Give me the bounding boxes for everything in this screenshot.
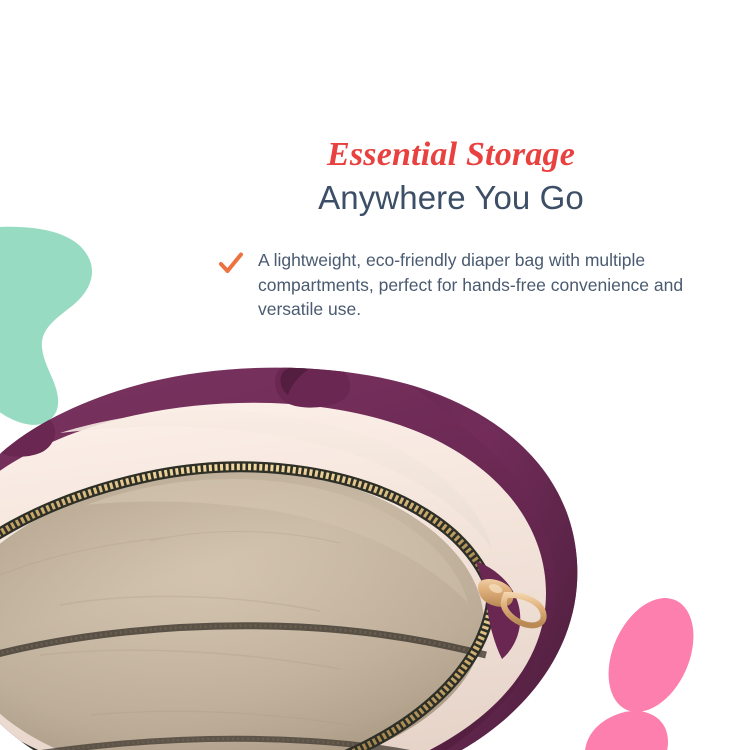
- feature-row: A lightweight, eco-friendly diaper bag w…: [216, 248, 686, 323]
- eyebrow-heading: Essential Storage: [216, 136, 686, 174]
- main-heading: Anywhere You Go: [216, 178, 686, 218]
- promo-image-canvas: Essential Storage Anywhere You Go A ligh…: [0, 0, 750, 750]
- check-icon: [218, 251, 244, 277]
- copy-block: Essential Storage Anywhere You Go A ligh…: [216, 136, 686, 322]
- diaper-bag-interior-photo: [0, 355, 640, 750]
- bag-body: [0, 358, 595, 750]
- feature-text: A lightweight, eco-friendly diaper bag w…: [258, 248, 686, 323]
